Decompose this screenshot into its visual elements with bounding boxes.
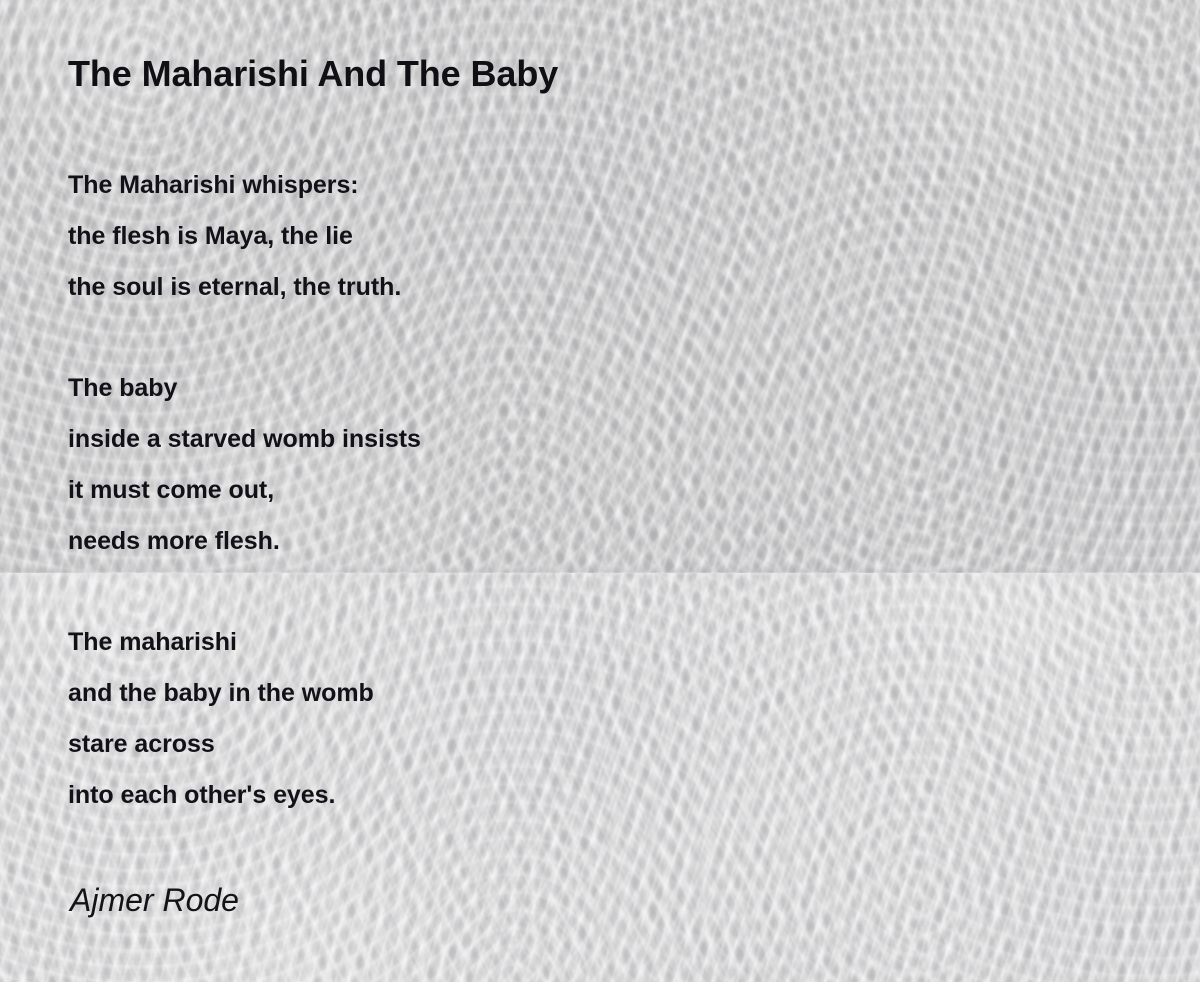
- poem-line: The baby: [68, 363, 421, 414]
- poem-stanza-2: The baby inside a starved womb insists i…: [68, 363, 421, 567]
- poem-line: and the baby in the womb: [68, 668, 374, 719]
- poem-line: needs more flesh.: [68, 516, 421, 567]
- poem-title: The Maharishi And The Baby: [68, 52, 558, 96]
- poem-content: The Maharishi And The Baby The Maharishi…: [68, 0, 1128, 982]
- poem-line: into each other's eyes.: [68, 770, 374, 821]
- poem-line: stare across: [68, 719, 374, 770]
- poem-line: the flesh is Maya, the lie: [68, 211, 401, 262]
- poem-line: inside a starved womb insists: [68, 414, 421, 465]
- poem-line: The Maharishi whispers:: [68, 160, 401, 211]
- poem-stanza-1: The Maharishi whispers: the flesh is May…: [68, 160, 401, 313]
- poem-image-canvas: The Maharishi And The Baby The Maharishi…: [0, 0, 1200, 982]
- poem-line: the soul is eternal, the truth.: [68, 262, 401, 313]
- poem-line: it must come out,: [68, 465, 421, 516]
- poem-line: The maharishi: [68, 617, 374, 668]
- poem-author: Ajmer Rode: [70, 878, 239, 922]
- poem-stanza-3: The maharishi and the baby in the womb s…: [68, 617, 374, 821]
